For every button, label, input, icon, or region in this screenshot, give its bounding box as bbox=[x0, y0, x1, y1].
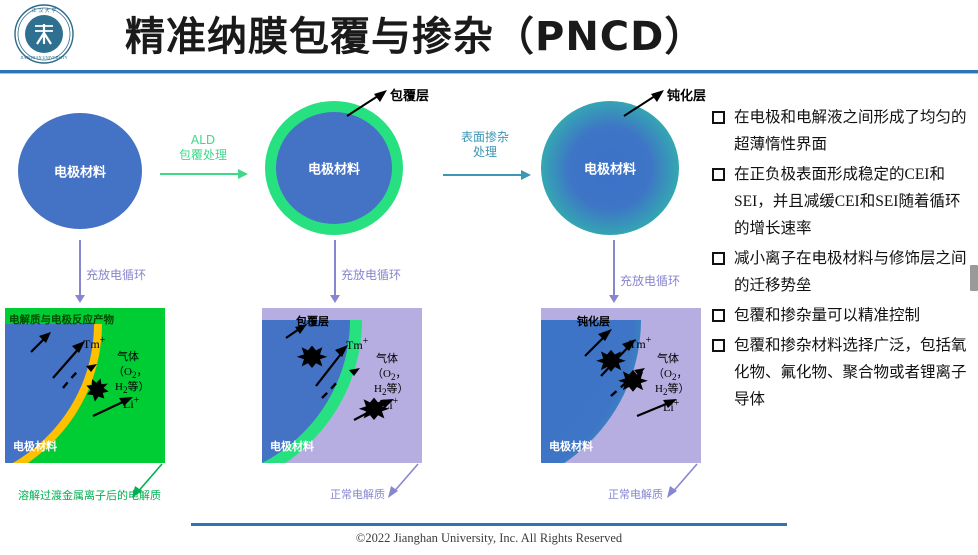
bullet-square-icon bbox=[712, 252, 725, 265]
panel2-arrows bbox=[262, 308, 422, 463]
slide-header: JIANGHAN UNIVERSITY 江 汉 大 学 精准纳膜包覆与掺杂（PN… bbox=[0, 0, 978, 72]
copyright-text: ©2022 Jianghan University, Inc. All Righ… bbox=[0, 531, 978, 546]
electrode-circle-2: 电极材料 bbox=[265, 101, 403, 235]
circle-3-label: 电极材料 bbox=[541, 159, 679, 178]
panel3-arrows bbox=[541, 308, 701, 463]
cycle-label-2: 充放电循环 bbox=[341, 266, 401, 283]
jianghan-university-logo: JIANGHAN UNIVERSITY 江 汉 大 学 bbox=[8, 2, 80, 70]
ald-arrow-line1: ALD bbox=[191, 133, 215, 147]
bullet-square-icon bbox=[712, 168, 725, 181]
panel1-arrows bbox=[5, 308, 165, 463]
panel1-caption: 溶解过渡金属离子后的电解质 bbox=[18, 488, 168, 503]
list-item: 包覆和掺杂量可以精准控制 bbox=[712, 302, 974, 329]
bullet-text: 在电极和电解液之间形成了均匀的超薄惰性界面 bbox=[734, 104, 974, 158]
svg-text:JIANGHAN UNIVERSITY: JIANGHAN UNIVERSITY bbox=[20, 55, 67, 60]
bullet-text: 在正负极表面形成稳定的CEI和SEI，并且减缓CEI和SEI随着循环的增长速率 bbox=[734, 161, 974, 242]
circle-1-label: 电极材料 bbox=[18, 162, 142, 181]
page-title: 精准纳膜包覆与掺杂（PNCD） bbox=[125, 4, 705, 62]
circle-2-label: 电极材料 bbox=[276, 159, 392, 178]
bullet-text: 包覆和掺杂材料选择广泛，包括氧化物、氟化物、聚合物或者锂离子导体 bbox=[734, 332, 974, 413]
panel2-caption: 正常电解质 bbox=[330, 487, 460, 502]
coating-layer-label-top: 包覆层 bbox=[390, 85, 429, 104]
scrollbar-thumb[interactable] bbox=[970, 265, 978, 291]
bullet-text: 减小离子在电极材料与修饰层之间的迁移势垒 bbox=[734, 245, 974, 299]
bullet-text: 包覆和掺杂量可以精准控制 bbox=[734, 302, 920, 329]
list-item: 在电极和电解液之间形成了均匀的超薄惰性界面 bbox=[712, 104, 974, 158]
electrode-circle-1: 电极材料 bbox=[18, 113, 142, 229]
cycle-label-1: 充放电循环 bbox=[86, 266, 146, 283]
panel3-caption: 正常电解质 bbox=[608, 487, 738, 502]
header-divider-light bbox=[0, 73, 978, 74]
svg-text:江 汉 大 学: 江 汉 大 学 bbox=[32, 7, 57, 14]
list-item: 包覆和掺杂材料选择广泛，包括氧化物、氟化物、聚合物或者锂离子导体 bbox=[712, 332, 974, 413]
bullet-square-icon bbox=[712, 339, 725, 352]
bare-electrode-panel: 电解质与电极反应产物 电极材料 Tm+ 气体 （O2， H2等） Li+ bbox=[5, 308, 165, 463]
electrode-circle-3: 电极材料 bbox=[541, 101, 679, 235]
bullet-list: 在电极和电解液之间形成了均匀的超薄惰性界面 在正负极表面形成稳定的CEI和SEI… bbox=[712, 104, 974, 416]
ald-arrow-line2: 包覆处理 bbox=[179, 148, 227, 162]
footer-divider bbox=[191, 523, 787, 526]
bullet-square-icon bbox=[712, 309, 725, 322]
cycle-label-3: 充放电循环 bbox=[620, 272, 680, 289]
list-item: 减小离子在电极材料与修饰层之间的迁移势垒 bbox=[712, 245, 974, 299]
bullet-square-icon bbox=[712, 111, 725, 124]
doping-arrow-line2: 处理 bbox=[473, 145, 497, 159]
doped-electrode-panel: 钝化层 电极材料 Tm+ 气体 （O2， H2等） Li+ bbox=[541, 308, 701, 463]
coated-electrode-panel: 包覆层 电极材料 Tm+ 气体 （O2， H2等） Li+ bbox=[262, 308, 422, 463]
doping-arrow-line1: 表面掺杂 bbox=[461, 130, 509, 144]
list-item: 在正负极表面形成稳定的CEI和SEI，并且减缓CEI和SEI随着循环的增长速率 bbox=[712, 161, 974, 242]
passivation-layer-label-top: 钝化层 bbox=[667, 85, 706, 104]
